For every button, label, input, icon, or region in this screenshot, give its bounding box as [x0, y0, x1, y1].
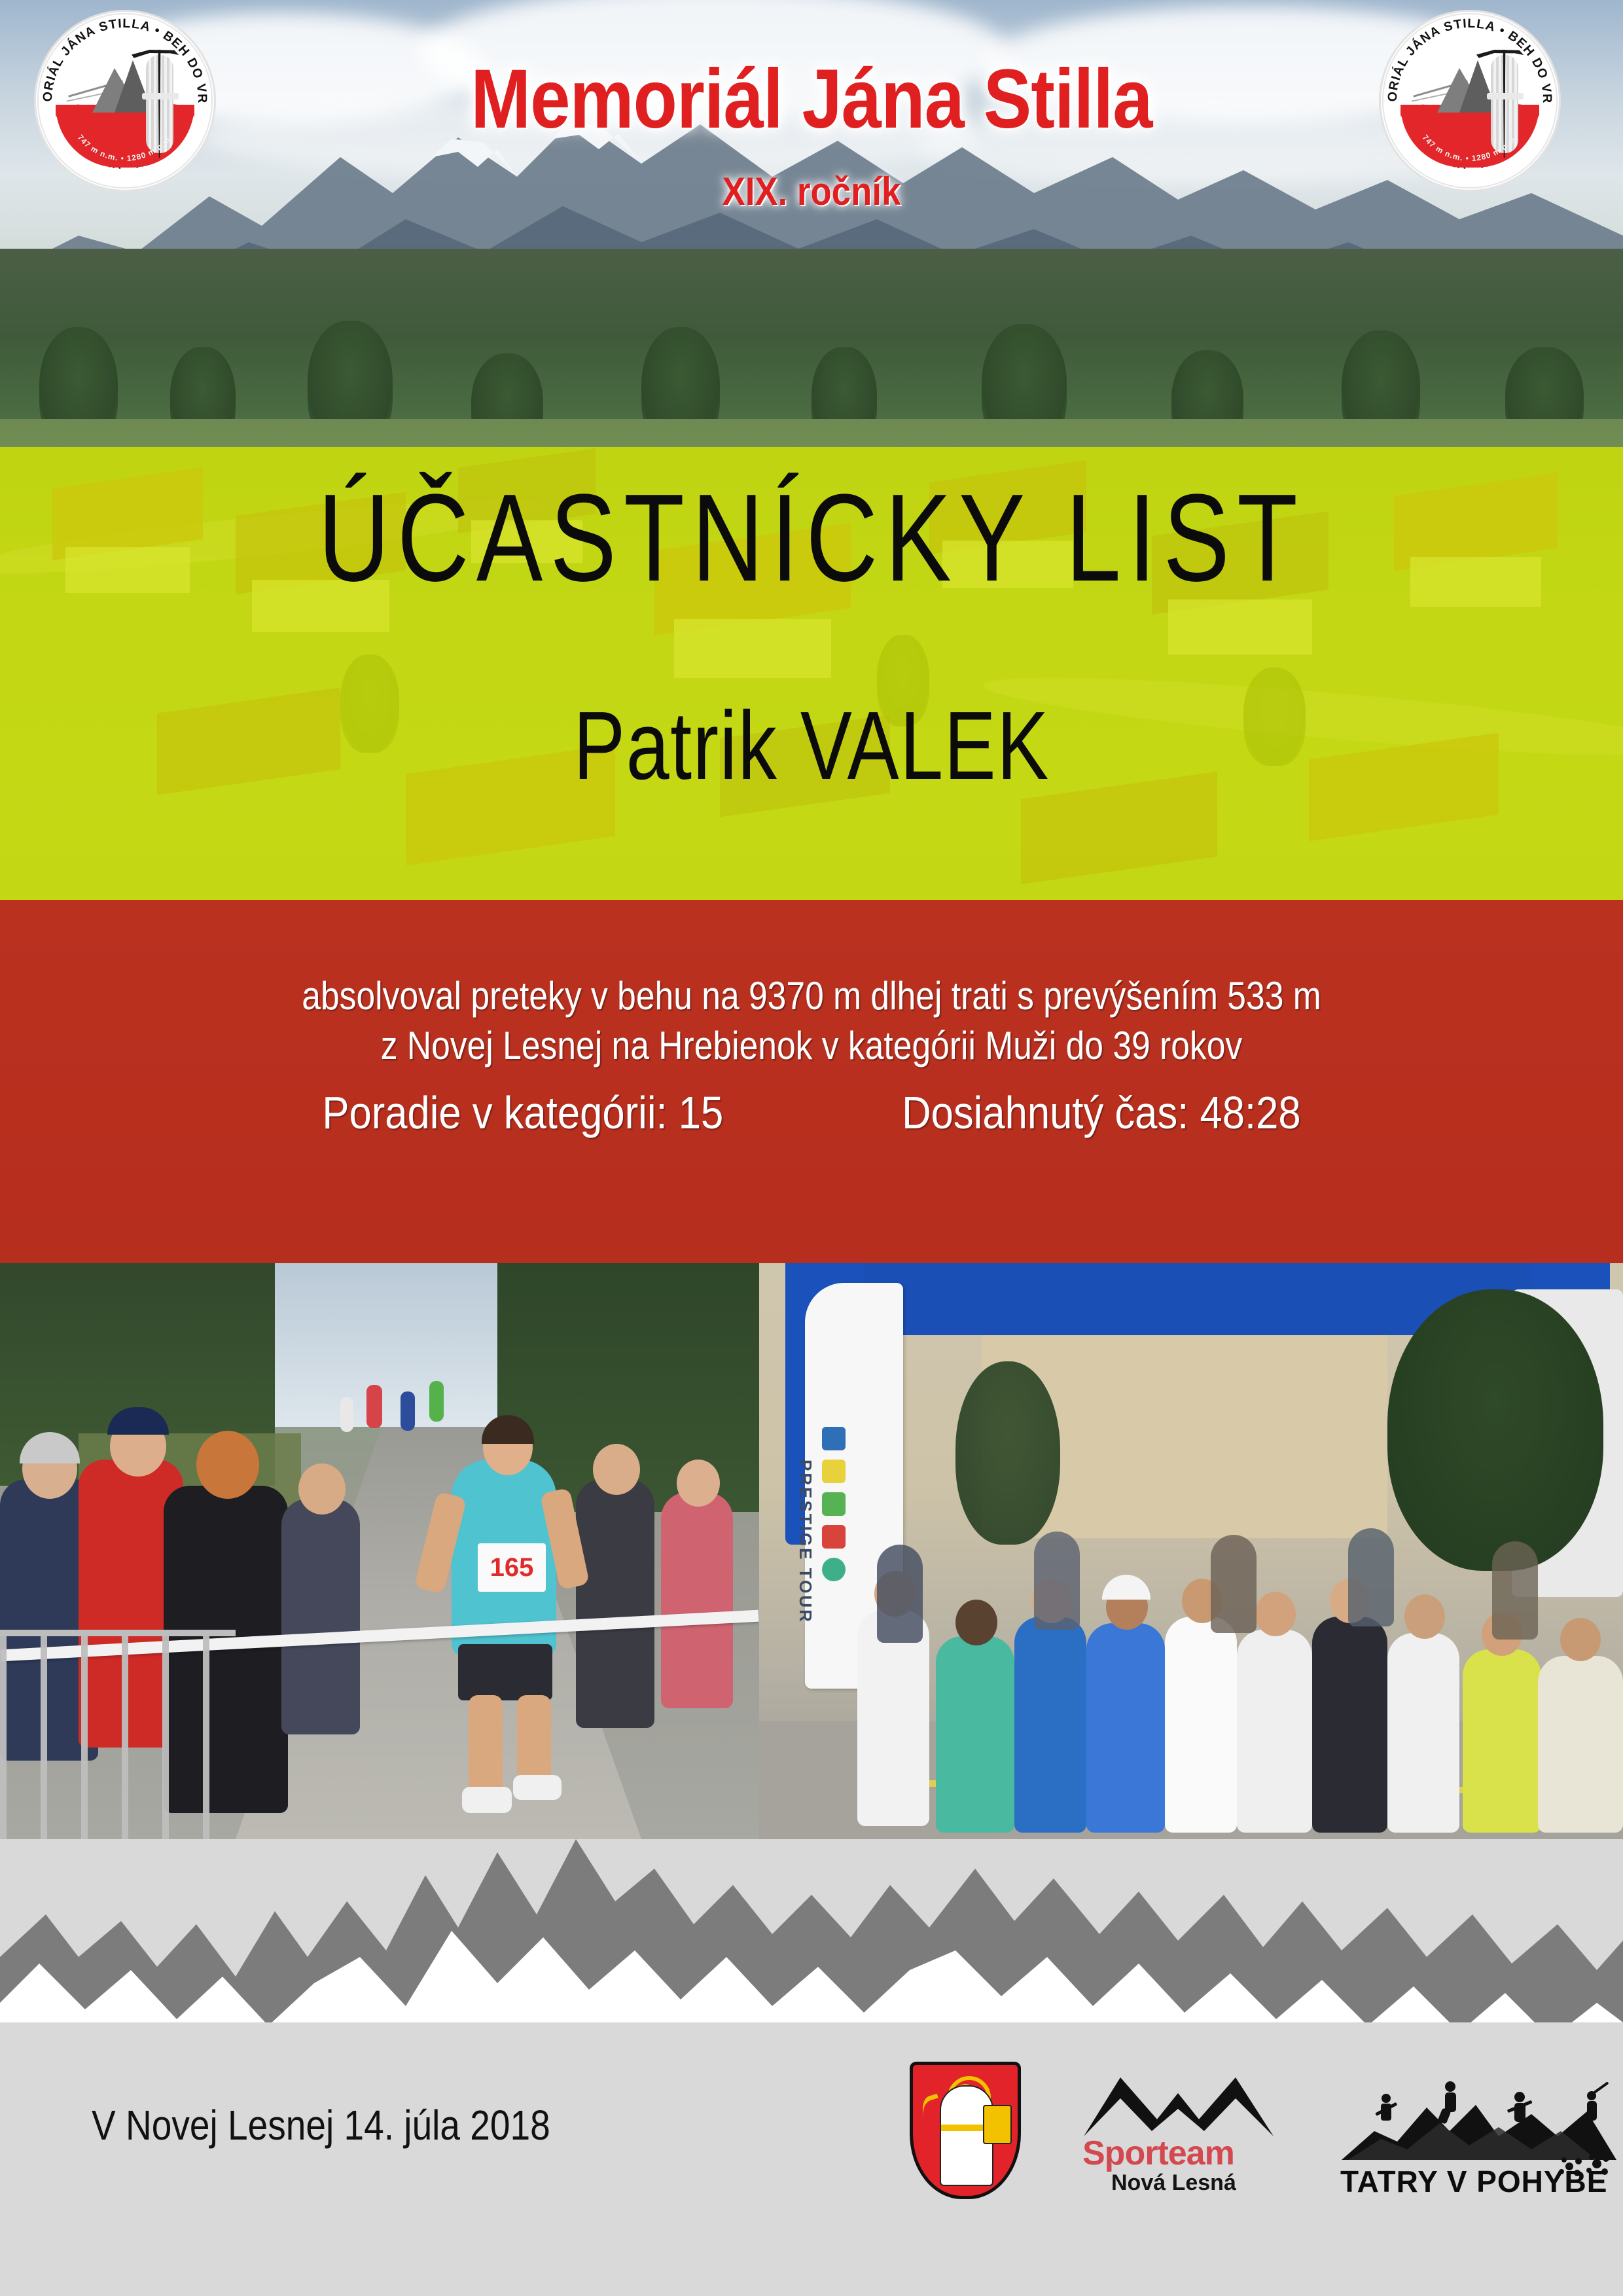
sporteam-name: Sporteam — [1082, 2134, 1234, 2173]
result-row: Poradie v kategórii: 15 Dosiahnutý čas: … — [98, 1086, 1525, 1139]
race-description-line-2: z Novej Lesnej na Hrebienok v kategórii … — [114, 1023, 1510, 1068]
sponsor-logos: Sporteam Nová Lesná — [910, 2062, 1623, 2199]
photo-strip: 165 PRESTIGE TOUR — [0, 1263, 1623, 1839]
tatry-v-pohybe-text: TATRY V POHYBE — [1340, 2164, 1607, 2199]
category-rank: Poradie v kategórii: 15 — [322, 1086, 723, 1139]
mountain-peaks-icon — [1080, 2068, 1276, 2140]
sporteam-logo: Sporteam Nová Lesná — [1080, 2068, 1276, 2199]
photo-mass-start: PRESTIGE TOUR — [759, 1263, 1623, 1839]
runner-bib-number: 165 — [478, 1543, 546, 1592]
issue-place-and-date: V Novej Lesnej 14. júla 2018 — [92, 2101, 550, 2149]
certificate-heading: ÚČASTNÍCKY LIST — [162, 467, 1461, 609]
race-description-line-1: absolvoval preteky v behu na 9370 m dlhe… — [114, 973, 1510, 1018]
nova-lesna-coat-of-arms — [910, 2062, 1021, 2199]
sporteam-location: Nová Lesná — [1111, 2170, 1236, 2196]
photo-finish-line: 165 — [0, 1263, 759, 1839]
event-edition: XIX. ročník — [98, 169, 1525, 214]
tatry-v-pohybe-logo: TATRY V POHYBE — [1335, 2068, 1623, 2199]
certificate-page: MEMORIÁL JÁNA STILLA • BEH DO VRCHU NOVÁ… — [0, 0, 1623, 2296]
red-band — [0, 900, 1623, 1263]
finish-time: Dosiahnutý čas: 48:28 — [902, 1086, 1301, 1139]
participant-name: Patrik VALEK — [162, 691, 1461, 802]
event-title: Memoriál Jána Stilla — [114, 51, 1510, 147]
